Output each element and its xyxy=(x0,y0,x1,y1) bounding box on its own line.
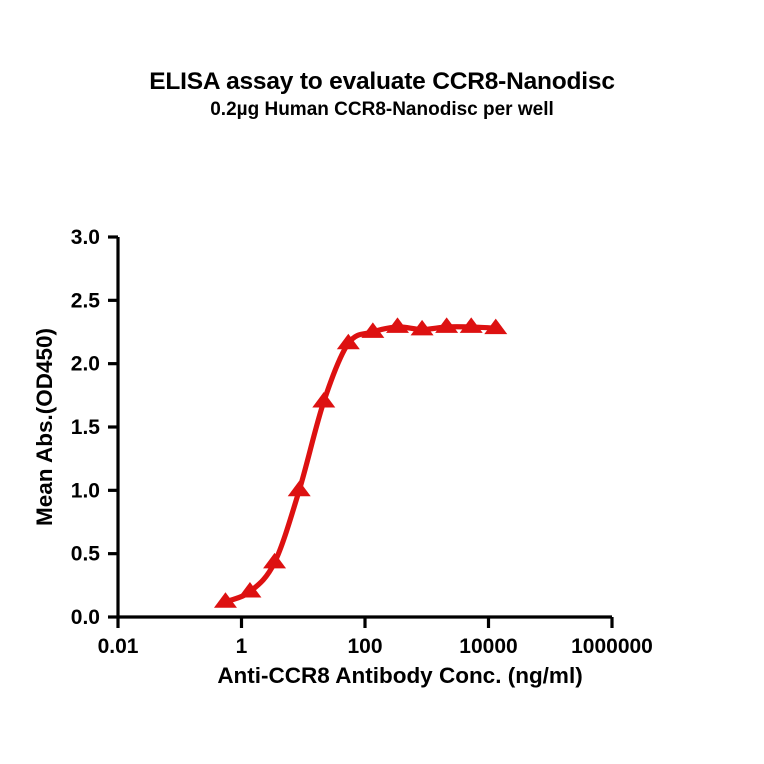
data-point-marker xyxy=(312,392,335,408)
x-axis-ticks: 0.011100100001000000 xyxy=(98,617,653,658)
x-axis-title: Anti-CCR8 Antibody Conc. (ng/ml) xyxy=(217,663,582,688)
y-tick-label: 0.0 xyxy=(71,606,100,629)
x-tick-label: 10000 xyxy=(459,635,517,658)
x-tick-label: 1000000 xyxy=(571,635,653,658)
data-point-marker xyxy=(263,553,286,569)
y-tick-label: 2.0 xyxy=(71,353,100,376)
series-line xyxy=(225,327,495,602)
series-markers xyxy=(214,317,507,607)
elisa-chart-figure: ELISA assay to evaluate CCR8-Nanodisc 0.… xyxy=(0,0,764,764)
y-axis-ticks: 0.00.51.01.52.02.53.0 xyxy=(71,226,118,629)
y-tick-label: 1.0 xyxy=(71,479,100,502)
x-tick-label: 100 xyxy=(347,635,382,658)
y-tick-label: 3.0 xyxy=(71,226,100,249)
data-point-marker xyxy=(288,481,311,497)
y-tick-label: 2.5 xyxy=(71,289,101,312)
y-tick-label: 1.5 xyxy=(71,416,101,439)
y-axis-title: Mean Abs.(OD450) xyxy=(32,328,57,526)
x-tick-label: 1 xyxy=(236,635,248,658)
y-tick-label: 0.5 xyxy=(71,543,101,566)
plot-area: 0.00.51.01.52.02.53.0 0.0111001000010000… xyxy=(0,0,764,764)
x-tick-label: 0.01 xyxy=(98,635,139,658)
